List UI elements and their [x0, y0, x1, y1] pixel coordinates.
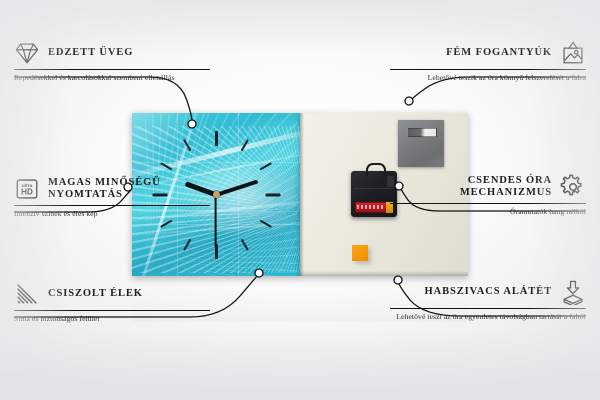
foam-pad	[352, 245, 368, 261]
gear-icon	[560, 174, 586, 200]
connector-endpoint-handles	[405, 97, 413, 105]
hour-marker	[160, 162, 172, 170]
hanger-slot	[407, 128, 437, 137]
callout-header: CSISZOLT ÉLEK	[14, 281, 210, 307]
callout-subtitle: Intenzív színek és éles kép	[14, 209, 210, 219]
minute-hand	[215, 179, 258, 196]
hour-marker	[183, 238, 191, 250]
callout-header: HABSZIVACS ALÁTÉT	[390, 279, 586, 305]
callout-title: FÉM FOGANTYÚK	[446, 47, 552, 59]
callout-high-quality-print[interactable]: ultra HD MAGAS MINŐSÉGŰ NYOMTATÁS Intenz…	[14, 176, 210, 219]
callout-divider	[390, 203, 586, 204]
callout-subtitle: Óramutatók hang nélkül	[390, 207, 586, 217]
diamond-icon	[14, 40, 40, 66]
picture-frame-hanger-icon	[560, 40, 586, 66]
hour-marker	[241, 238, 249, 250]
callout-tempered-glass[interactable]: EDZETT ÜVEG Repedésekkel és karcolásokka…	[14, 40, 210, 83]
callout-divider	[14, 310, 210, 311]
hour-marker	[265, 193, 280, 196]
polished-edges-icon	[14, 281, 40, 307]
callout-title: CSISZOLT ÉLEK	[48, 288, 143, 300]
foam-pad-arrow-icon	[560, 279, 586, 305]
svg-text:HD: HD	[21, 188, 33, 197]
callout-metal-handles[interactable]: FÉM FOGANTYÚK Lehetővé teszik az óra kön…	[390, 40, 586, 83]
hour-marker	[215, 131, 218, 146]
hour-marker	[160, 219, 172, 227]
metal-hanger-plate	[398, 120, 444, 167]
mechanism-hook	[366, 163, 386, 176]
callout-header: EDZETT ÜVEG	[14, 40, 210, 66]
callout-polished-edges[interactable]: CSISZOLT ÉLEK Sima és biztonságos felüle…	[14, 281, 210, 324]
second-hand	[215, 195, 217, 247]
callout-divider	[390, 308, 586, 309]
hour-marker	[260, 219, 272, 227]
mechanism-seam	[354, 188, 394, 189]
callout-subtitle: Repedésekkel és karcolásokkal szembeni e…	[14, 73, 210, 83]
callout-subtitle: Lehetővé teszik az óra könnyű felszerelé…	[390, 73, 586, 83]
hour-marker	[183, 139, 191, 151]
hour-marker	[241, 139, 249, 151]
battery-label	[357, 205, 385, 209]
callout-divider	[14, 69, 210, 70]
callout-divider	[14, 205, 210, 206]
callout-divider	[390, 69, 586, 70]
callout-subtitle: Sima és biztonságos felület	[14, 314, 210, 324]
battery	[355, 202, 393, 213]
callout-subtitle: Lehetővé teszi az óra egyenletes távolsá…	[390, 312, 586, 322]
callout-title: HABSZIVACS ALÁTÉT	[425, 286, 552, 298]
callout-foam-spacer[interactable]: HABSZIVACS ALÁTÉT Lehetővé teszi az óra …	[390, 279, 586, 322]
callout-title: MAGAS MINŐSÉGŰ NYOMTATÁS	[48, 177, 210, 202]
ultra-hd-icon: ultra HD	[14, 176, 40, 202]
callout-header: CSENDES ÓRA MECHANIZMUS	[390, 174, 586, 200]
hour-marker	[260, 162, 272, 170]
callout-title: EDZETT ÜVEG	[48, 47, 133, 59]
clock-center-cap	[213, 191, 220, 198]
infographic-canvas: EDZETT ÜVEG Repedésekkel és karcolásokka…	[0, 0, 600, 400]
callout-silent-mechanism[interactable]: CSENDES ÓRA MECHANIZMUS Óramutatók hang …	[390, 174, 586, 217]
callout-title: CSENDES ÓRA MECHANIZMUS	[390, 175, 552, 200]
callout-header: FÉM FOGANTYÚK	[390, 40, 586, 66]
callout-header: ultra HD MAGAS MINŐSÉGŰ NYOMTATÁS	[14, 176, 210, 202]
